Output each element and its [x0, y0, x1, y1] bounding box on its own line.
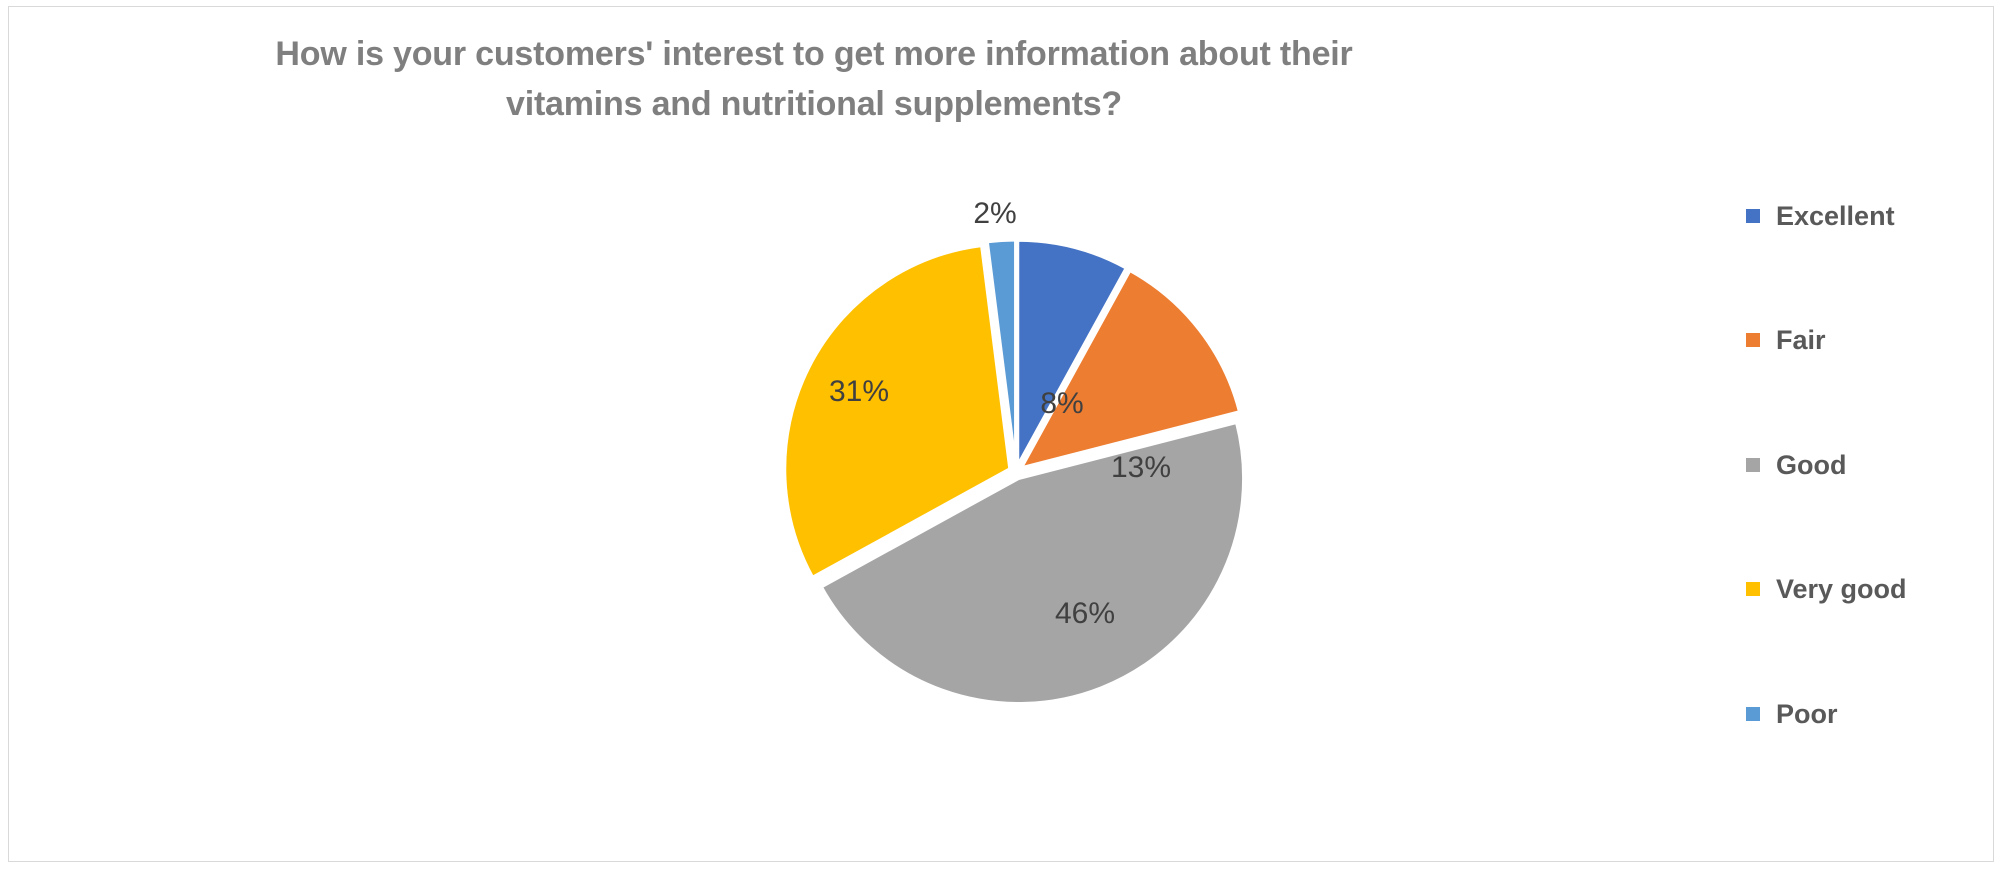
legend-item-label: Fair — [1776, 325, 1826, 355]
legend-item-poor[interactable]: Poor — [1746, 697, 1838, 731]
legend-swatch-icon — [1746, 582, 1760, 596]
legend-item-fair[interactable]: Fair — [1746, 323, 1826, 357]
data-label-poor: 2% — [973, 197, 1016, 231]
legend-swatch-icon — [1746, 333, 1760, 347]
plot-area: 8%13%46%31%2% — [9, 7, 1995, 863]
legend-item-label: Excellent — [1776, 201, 1895, 231]
pie-slices-group — [785, 240, 1244, 703]
data-label-good: 46% — [1055, 597, 1115, 631]
legend-item-label: Very good — [1776, 574, 1907, 604]
data-label-fair: 13% — [1111, 451, 1171, 485]
data-label-very-good: 31% — [829, 375, 889, 409]
legend-item-very-good[interactable]: Very good — [1746, 572, 1907, 606]
legend-item-good[interactable]: Good — [1746, 448, 1846, 482]
legend-swatch-icon — [1746, 458, 1760, 472]
legend-swatch-icon — [1746, 209, 1760, 223]
legend-item-excellent[interactable]: Excellent — [1746, 199, 1895, 233]
chart-legend: ExcellentFairGoodVery goodPoor — [1746, 179, 1986, 629]
legend-swatch-icon — [1746, 707, 1760, 721]
chart-frame: How is your customers' interest to get m… — [8, 6, 1994, 862]
data-label-excellent: 8% — [1040, 387, 1083, 421]
legend-item-label: Good — [1776, 450, 1846, 480]
pie-chart — [749, 177, 1309, 717]
legend-item-label: Poor — [1776, 699, 1838, 729]
